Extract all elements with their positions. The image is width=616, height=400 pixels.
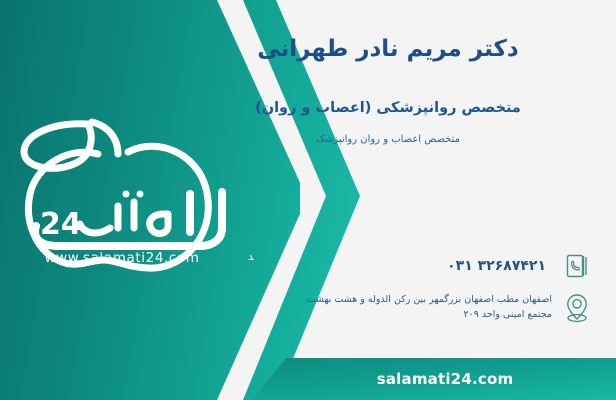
footer-bar: salamati24.com — [252, 358, 616, 400]
svg-text:24: 24 — [40, 207, 82, 242]
logo-website-url: www.salamati24.com — [8, 250, 236, 266]
logo-24-badge: 24 — [40, 207, 82, 242]
phone-number: ۳۲۶۸۷۴۲۱ ۰۳۱ — [447, 258, 546, 274]
business-card: 24 به راحتی یک لبخند www.salamati24.com … — [0, 0, 616, 400]
doctor-specialty: متخصص روانپزشکی (اعصاب و روان) — [178, 100, 598, 116]
logo-tagline: به راحتی یک لبخند — [248, 250, 254, 263]
phone-book-icon — [562, 250, 592, 282]
footer-website: salamati24.com — [377, 370, 514, 388]
address-row: اصفهان مطب اصفهان بزرگمهر بین رکن الدوله… — [292, 292, 592, 324]
address-line-1: اصفهان مطب اصفهان بزرگمهر بین رکن الدوله… — [307, 293, 552, 308]
doctor-name: دکتر مریم نادر طهرانی — [178, 36, 598, 62]
phone-row: ۳۲۶۸۷۴۲۱ ۰۳۱ — [302, 250, 592, 282]
address-text: اصفهان مطب اصفهان بزرگمهر بین رکن الدوله… — [307, 293, 552, 322]
doctor-specialty-subtitle: متخصص اعصاب و روان روانپزشک — [178, 134, 598, 145]
address-line-2: مجتمع امینی واحد ۲۰۹ — [307, 308, 552, 323]
map-pin-icon — [562, 292, 592, 324]
